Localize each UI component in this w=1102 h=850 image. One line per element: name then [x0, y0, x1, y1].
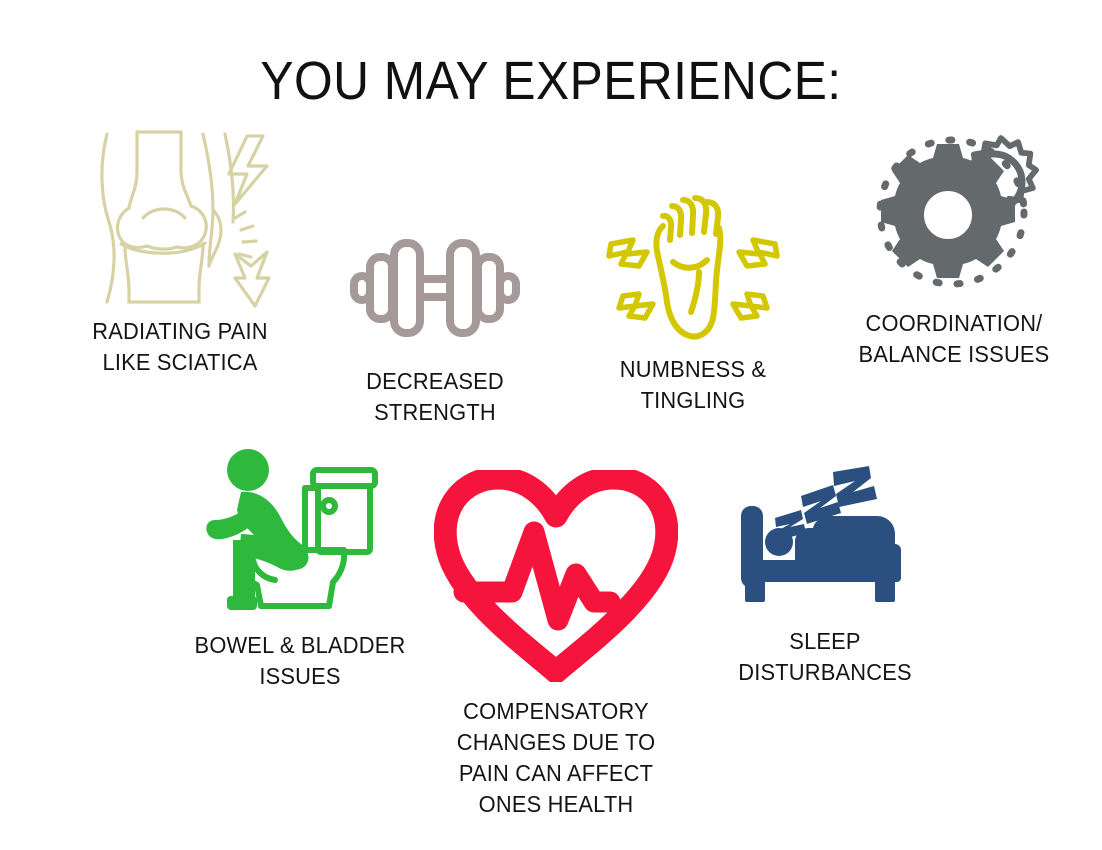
item-compensatory-label: COMPENSATORY CHANGES DUE TO PAIN CAN AFF… — [432, 696, 681, 820]
item-bowel: BOWEL & BLADDER ISSUES — [170, 448, 430, 692]
item-numbness-label: NUMBNESS & TINGLING — [584, 354, 803, 416]
item-numbness: NUMBNESS & TINGLING — [578, 190, 808, 416]
item-coordination-label: COORDINATION/ BALANCE ISSUES — [836, 308, 1072, 370]
dumbbell-icon — [349, 232, 521, 344]
item-coordination: COORDINATION/ BALANCE ISSUES — [830, 130, 1078, 370]
item-sleep-label: SLEEP DISTURBANCES — [716, 626, 935, 688]
gears-icon-box — [830, 130, 1078, 300]
item-decreased-strength-label: DECREASED STRENGTH — [326, 366, 545, 428]
item-decreased-strength: DECREASED STRENGTH — [320, 232, 550, 428]
person-on-toilet-icon-box — [170, 448, 430, 620]
item-sleep: SLEEP DISTURBANCES — [710, 466, 940, 688]
heart-heartbeat-icon-box — [425, 470, 687, 682]
foot-tingling-icon — [603, 190, 783, 342]
bed-sleeping-zzz-icon — [735, 466, 915, 612]
heart-heartbeat-icon — [434, 470, 678, 682]
bed-sleeping-zzz-icon-box — [710, 466, 940, 612]
foot-tingling-icon-box — [578, 190, 808, 342]
item-radiating-pain: RADIATING PAIN LIKE SCIATICA — [40, 126, 320, 378]
gears-icon — [864, 130, 1044, 300]
item-radiating-pain-label: RADIATING PAIN LIKE SCIATICA — [47, 316, 313, 378]
item-compensatory: COMPENSATORY CHANGES DUE TO PAIN CAN AFF… — [425, 470, 687, 820]
knee-joint-pain-icon-box — [40, 126, 320, 308]
knee-joint-pain-icon — [85, 126, 275, 308]
dumbbell-icon-box — [320, 232, 550, 344]
person-on-toilet-icon — [205, 448, 395, 620]
page-title: YOU MAY EXPERIENCE: — [44, 50, 1058, 112]
item-bowel-label: BOWEL & BLADDER ISSUES — [177, 630, 424, 692]
